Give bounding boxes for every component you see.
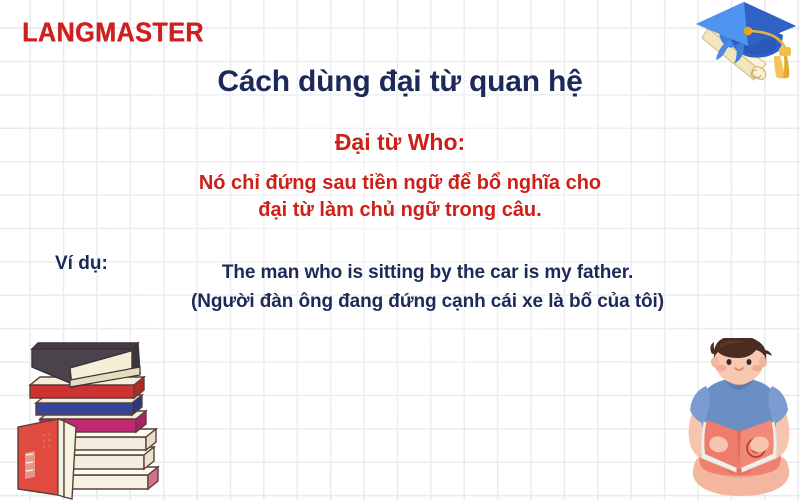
page-title: Cách dùng đại từ quan hệ [0, 65, 800, 99]
rule-description-line-1: Nó chỉ đứng sau tiền ngữ để bổ nghĩa cho [0, 170, 800, 197]
langmaster-logo: LANGMASTER [22, 17, 204, 49]
rule-description: Nó chỉ đứng sau tiền ngữ để bổ nghĩa cho… [0, 170, 800, 224]
section-subtitle: Đại từ Who: [0, 129, 800, 156]
graduation-cap-icon [688, 0, 800, 88]
example-sentence-vietnamese: (Người đàn ông đang đứng cạnh cái xe là … [55, 291, 800, 313]
example-block: The man who is sitting by the car is my … [55, 262, 800, 313]
reading-boy-icon [678, 338, 800, 500]
rule-description-line-2: đại từ làm chủ ngữ trong câu. [0, 197, 800, 224]
example-sentence-english: The man who is sitting by the car is my … [55, 262, 800, 284]
book-stack-icon [8, 335, 168, 500]
